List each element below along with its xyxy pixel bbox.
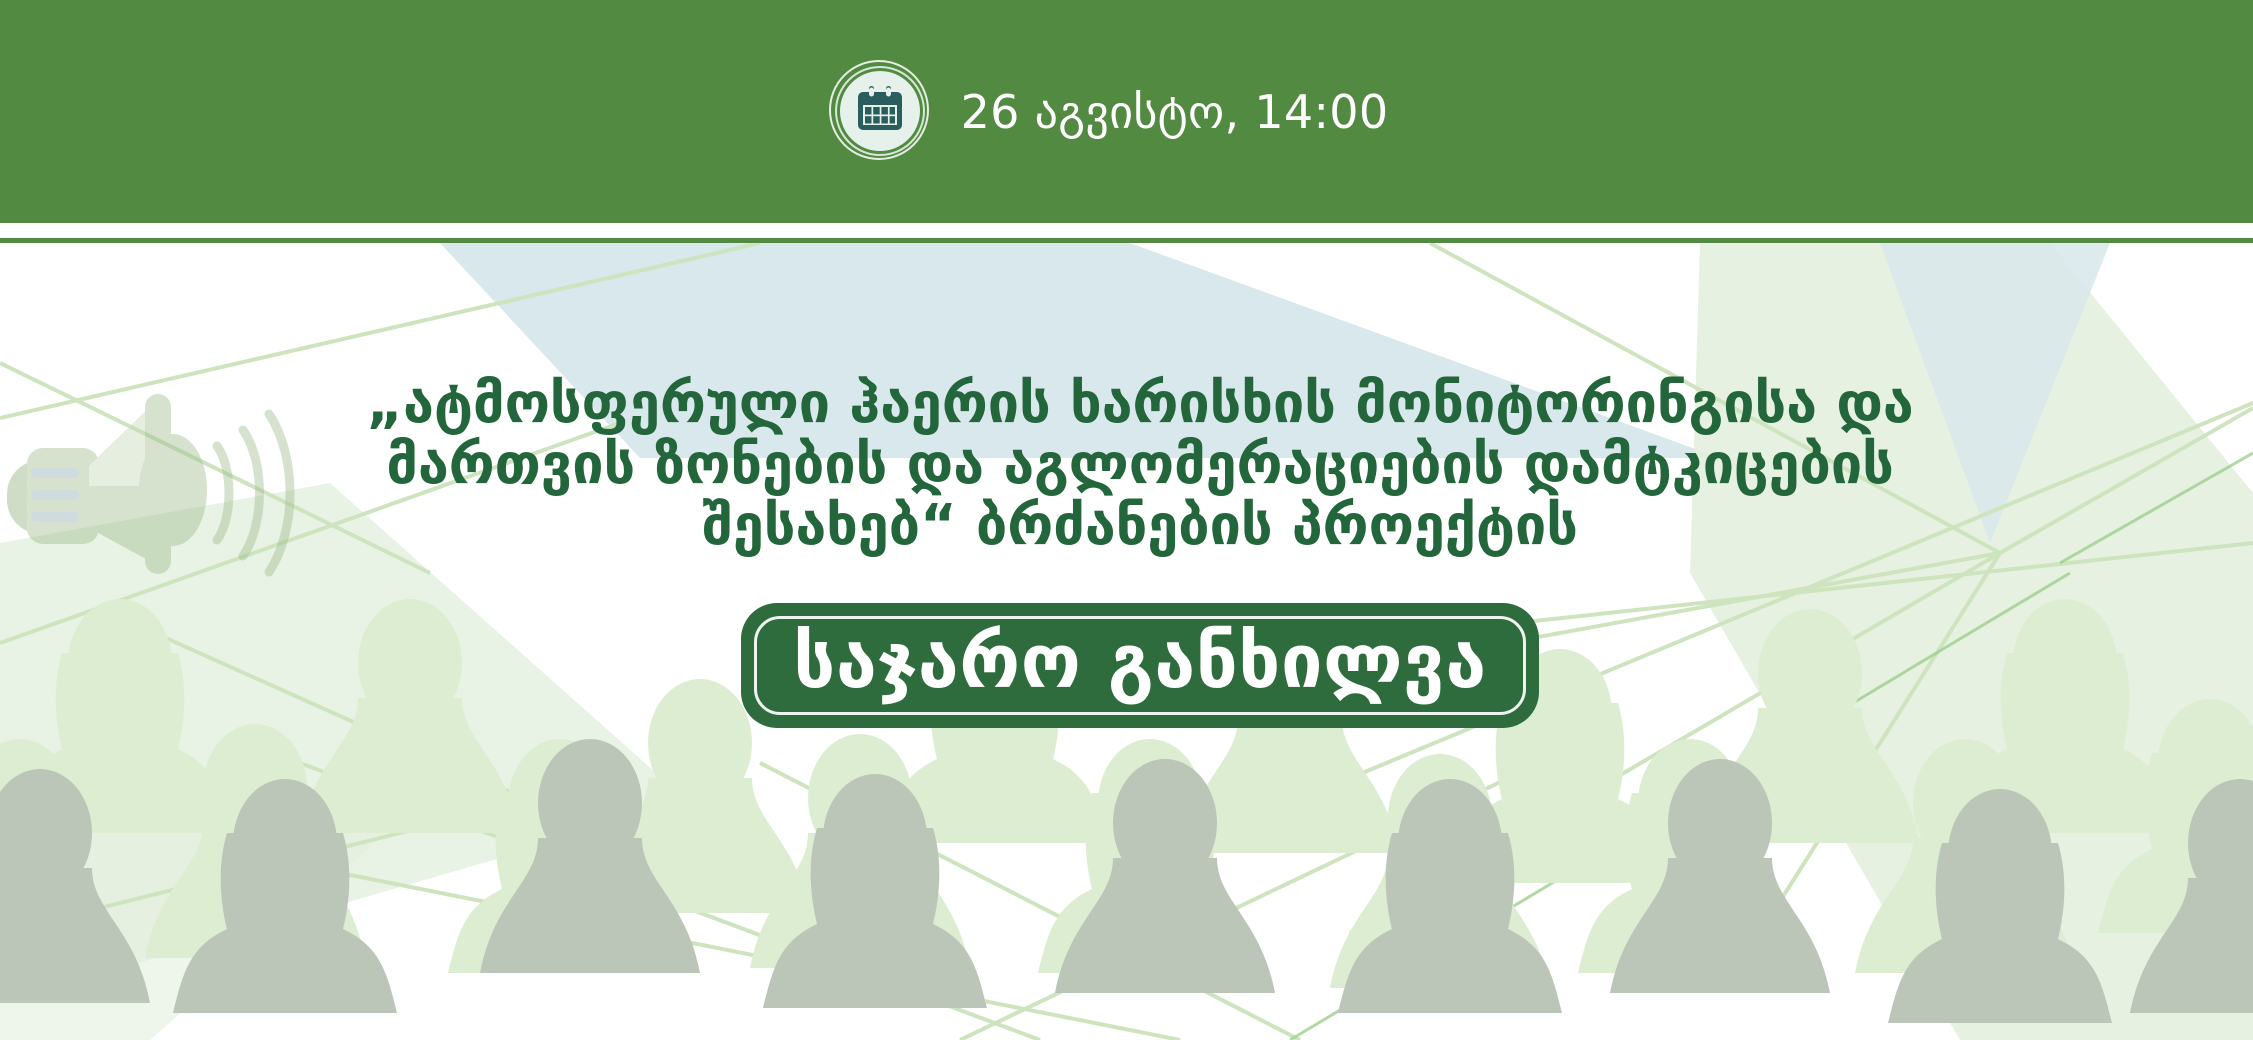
header-divider-gap — [0, 223, 2253, 238]
crowd-silhouettes — [0, 243, 2253, 1040]
event-announcement-banner: 26 აგვისტო, 14:00 — [0, 0, 2253, 1040]
banner-stage — [0, 243, 2253, 1040]
calendar-icon-badge — [829, 60, 933, 164]
header-band: 26 აგვისტო, 14:00 — [0, 0, 2253, 223]
header-divider-line — [0, 238, 2253, 243]
calendar-icon — [840, 71, 920, 151]
event-datetime-text: 26 აგვისტო, 14:00 — [961, 89, 1389, 135]
header-content: 26 აგვისტო, 14:00 — [829, 60, 1389, 164]
